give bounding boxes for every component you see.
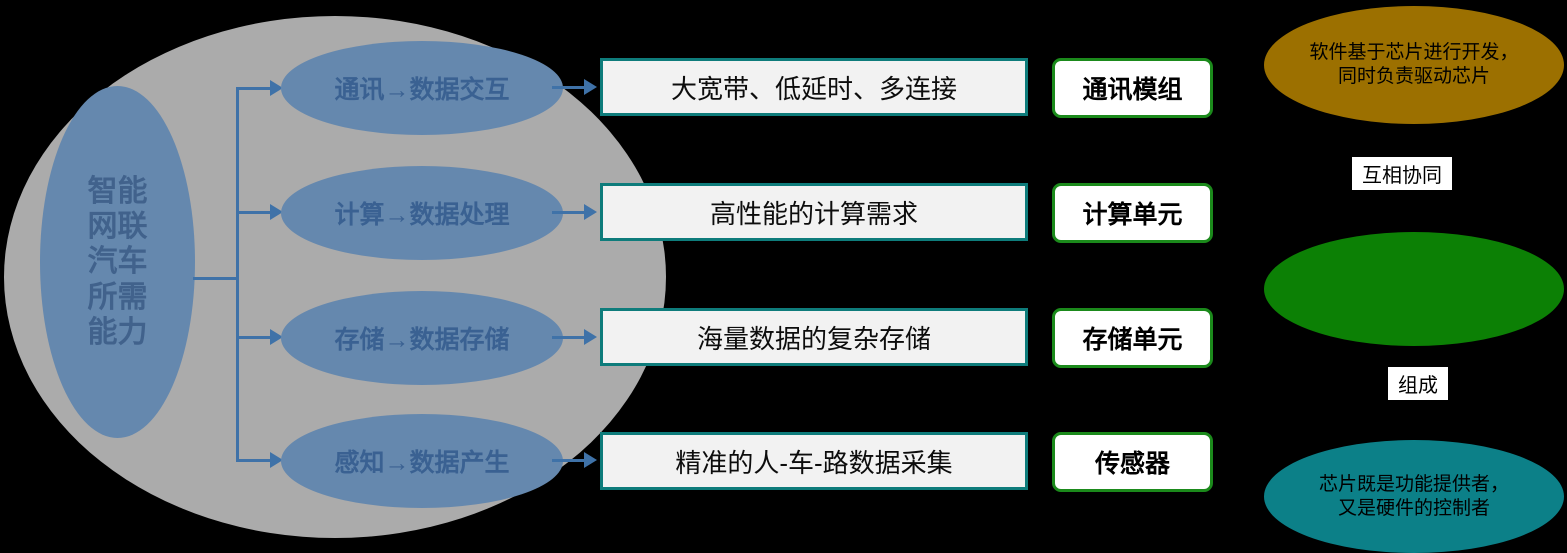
requirement-label: 高性能的计算需求 xyxy=(710,194,918,231)
connector-branch-3 xyxy=(236,336,272,339)
requirement-box-communication[interactable]: 大宽带、低延时、多连接 xyxy=(600,58,1028,116)
note-ellipse-middle[interactable] xyxy=(1264,232,1564,346)
relation-label-composition: 组成 xyxy=(1388,367,1448,400)
mid-arrow-head-4 xyxy=(584,452,597,468)
connector-trunk-horizontal xyxy=(193,277,239,280)
component-label: 通讯模组 xyxy=(1082,70,1182,106)
connector-trunk-vertical xyxy=(236,88,239,462)
mid-arrow-head-1 xyxy=(584,79,597,95)
requirement-label: 大宽带、低延时、多连接 xyxy=(671,69,957,106)
mid-arrow-line-1 xyxy=(552,86,586,89)
capability-ellipse-perception[interactable]: 感知→数据产生 xyxy=(281,414,563,508)
diagram-canvas: 智能网联汽车所需能力 通讯→数据交互 计算→数据处理 存储→数据存储 感知→数据… xyxy=(0,0,1567,553)
connector-branch-2 xyxy=(236,211,272,214)
requirement-box-perception[interactable]: 精准的人-车-路数据采集 xyxy=(600,432,1028,490)
relation-label-mutual-collaboration: 互相协同 xyxy=(1352,157,1452,190)
note-label: 芯片既是功能提供者， 又是硬件的控制者 xyxy=(1319,473,1509,521)
requirement-label: 精准的人-车-路数据采集 xyxy=(675,443,952,480)
note-ellipse-chip[interactable]: 芯片既是功能提供者， 又是硬件的控制者 xyxy=(1264,440,1564,553)
connector-branch-1 xyxy=(236,87,272,90)
capability-label: 存储→数据存储 xyxy=(334,320,509,356)
mid-arrow-line-4 xyxy=(552,459,586,462)
capability-label: 计算→数据处理 xyxy=(334,195,509,231)
requirement-label: 海量数据的复杂存储 xyxy=(697,319,931,356)
component-label: 存储单元 xyxy=(1082,320,1182,356)
component-box-computing-unit[interactable]: 计算单元 xyxy=(1052,183,1213,243)
mid-arrow-head-3 xyxy=(584,329,597,345)
mid-arrow-head-2 xyxy=(584,204,597,220)
mid-arrow-line-2 xyxy=(552,211,586,214)
component-box-communication-module[interactable]: 通讯模组 xyxy=(1052,58,1213,118)
connector-branch-4 xyxy=(236,459,272,462)
core-capability-label: 智能网联汽车所需能力 xyxy=(82,174,154,351)
capability-ellipse-storage[interactable]: 存储→数据存储 xyxy=(281,291,563,385)
requirement-box-computing[interactable]: 高性能的计算需求 xyxy=(600,183,1028,241)
core-capability-ellipse[interactable]: 智能网联汽车所需能力 xyxy=(40,86,195,438)
capability-ellipse-computing[interactable]: 计算→数据处理 xyxy=(281,166,563,260)
mid-arrow-line-3 xyxy=(552,336,586,339)
note-label: 软件基于芯片进行开发， 同时负责驱动芯片 xyxy=(1309,41,1518,89)
component-label: 计算单元 xyxy=(1082,195,1182,231)
capability-label: 通讯→数据交互 xyxy=(334,70,509,106)
component-box-storage-unit[interactable]: 存储单元 xyxy=(1052,308,1213,368)
note-ellipse-software[interactable]: 软件基于芯片进行开发， 同时负责驱动芯片 xyxy=(1264,6,1564,124)
requirement-box-storage[interactable]: 海量数据的复杂存储 xyxy=(600,308,1028,366)
component-box-sensor[interactable]: 传感器 xyxy=(1052,432,1213,492)
component-label: 传感器 xyxy=(1095,444,1170,480)
capability-ellipse-communication[interactable]: 通讯→数据交互 xyxy=(281,41,563,135)
capability-label: 感知→数据产生 xyxy=(334,443,509,479)
